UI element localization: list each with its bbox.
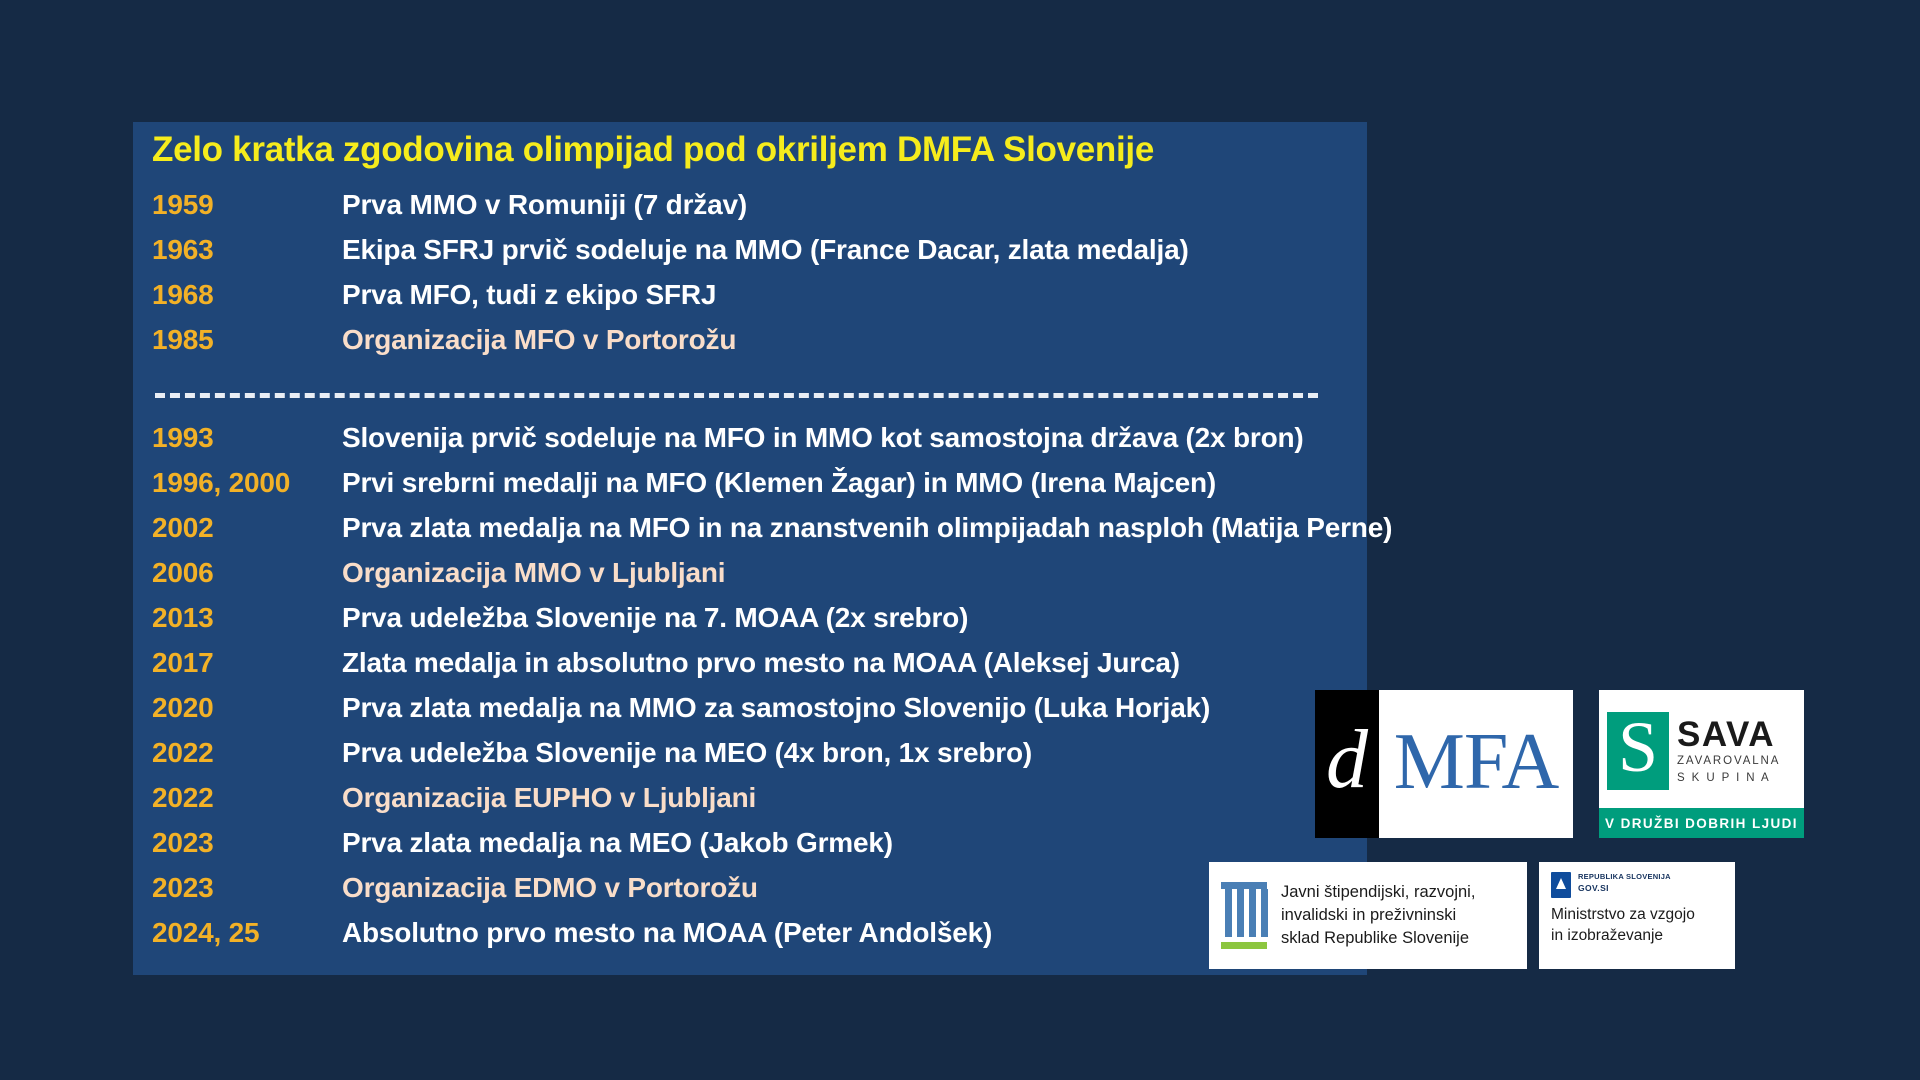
sklad-column-bar [1237,889,1244,937]
timeline-row: 1968Prva MFO, tudi z ekipo SFRJ [152,279,1189,324]
timeline-row: 2013Prva udeležba Slovenije na 7. MOAA (… [152,602,1392,647]
timeline-description: Ekipa SFRJ prvič sodeluje na MMO (France… [342,234,1189,266]
dmfa-mark: d [1315,690,1379,838]
ministrstvo-header: REPUBLIKA SLOVENIJA GOV.SI [1551,872,1723,898]
timeline-year: 2017 [152,647,342,679]
ministrstvo-text-area: Ministrstvo za vzgojo in izobraževanje [1551,905,1723,947]
sklad-capital [1221,882,1267,889]
sava-subtitle-2: S K U P I N A [1677,771,1780,785]
sava-subtitle-1: ZAVAROVALNA [1677,754,1780,768]
timeline-description: Prvi srebrni medalji na MFO (Klemen Žaga… [342,467,1216,499]
content-panel: Zelo kratka zgodovina olimpijad pod okri… [133,122,1367,975]
timeline-description: Prva udeležba Slovenije na 7. MOAA (2x s… [342,602,968,634]
timeline-row: 1985Organizacija MFO v Portorožu [152,324,1189,369]
sklad-column-bar [1225,889,1232,937]
timeline-year: 1996, 2000 [152,467,342,499]
ministrstvo-gov-block: REPUBLIKA SLOVENIJA GOV.SI [1578,872,1671,894]
sklad-column-icon [1221,879,1269,953]
timeline-description: Organizacija MMO v Ljubljani [342,557,725,589]
sava-main-area: S SAVA ZAVAROVALNA S K U P I N A [1599,690,1804,808]
timeline-year: 2022 [152,782,342,814]
sklad-line-2: invalidski in preživninski [1281,904,1475,927]
timeline-description: Organizacija EUPHO v Ljubljani [342,782,756,814]
era-divider [155,393,1318,398]
timeline-description: Prva MMO v Romuniji (7 držav) [342,189,747,221]
page-title: Zelo kratka zgodovina olimpijad pod okri… [152,130,1154,170]
timeline-row: 1993Slovenija prvič sodeluje na MFO in M… [152,422,1392,467]
timeline-year: 2022 [152,737,342,769]
logo-row-bottom: Javni štipendijski, razvojni, invalidski… [1209,862,1735,969]
sklad-base [1221,942,1267,949]
timeline-year: 1985 [152,324,342,356]
timeline-year: 1993 [152,422,342,454]
timeline-year: 2023 [152,827,342,859]
slide-root: Zelo kratka zgodovina olimpijad pod okri… [0,0,1920,1080]
logo-row-top: d MFA S SAVA ZAVAROVALNA S K U P I N A [1315,690,1804,838]
sava-logo: S SAVA ZAVAROVALNA S K U P I N A V DRUŽB… [1599,690,1804,838]
sklad-column-bar [1249,889,1256,937]
timeline-description: Absolutno prvo mesto na MOAA (Peter Ando… [342,917,992,949]
sklad-column-bar [1261,889,1268,937]
timeline-row: 2006Organizacija MMO v Ljubljani [152,557,1392,602]
timeline-description: Prva zlata medalja na MFO in na znanstve… [342,512,1392,544]
timeline-description: Prva zlata medalja na MEO (Jakob Grmek) [342,827,893,859]
dmfa-letter: d [1326,718,1368,802]
timeline-description: Prva zlata medalja na MMO za samostojno … [342,692,1210,724]
timeline-description: Prva udeležba Slovenije na MEO (4x bron,… [342,737,1032,769]
timeline-section-early: 1959Prva MMO v Romuniji (7 držav)1963Eki… [152,189,1189,369]
sklad-text-area: Javni štipendijski, razvojni, invalidski… [1281,881,1475,949]
sava-text-area: SAVA ZAVAROVALNA S K U P I N A [1677,717,1780,785]
timeline-year: 1968 [152,279,342,311]
timeline-description: Slovenija prvič sodeluje na MFO in MMO k… [342,422,1304,454]
dmfa-logo: d MFA [1315,690,1573,838]
sava-mark: S [1607,712,1669,790]
timeline-row: 1963Ekipa SFRJ prvič sodeluje na MMO (Fr… [152,234,1189,279]
dmfa-wordmark: MFA [1394,722,1558,802]
timeline-year: 2024, 25 [152,917,342,949]
timeline-description: Zlata medalja in absolutno prvo mesto na… [342,647,1180,679]
republika-slovenija-label: REPUBLIKA SLOVENIJA [1578,872,1671,883]
sava-wordmark: SAVA [1677,717,1780,752]
timeline-year: 2006 [152,557,342,589]
coat-of-arms-icon [1551,872,1571,898]
sklad-line-3: sklad Republike Slovenije [1281,927,1475,950]
timeline-row: 1996, 2000Prvi srebrni medalji na MFO (K… [152,467,1392,512]
ministrstvo-line-1: Ministrstvo za vzgojo [1551,905,1723,926]
ministrstvo-line-2: in izobraževanje [1551,926,1723,947]
timeline-year: 2023 [152,872,342,904]
timeline-year: 2013 [152,602,342,634]
sava-tagline: V DRUŽBI DOBRIH LJUDI [1599,808,1804,838]
sponsor-logos: d MFA S SAVA ZAVAROVALNA S K U P I N A [1195,690,1855,980]
ministrstvo-logo: REPUBLIKA SLOVENIJA GOV.SI Ministrstvo z… [1539,862,1735,969]
timeline-description: Prva MFO, tudi z ekipo SFRJ [342,279,716,311]
timeline-row: 1959Prva MMO v Romuniji (7 držav) [152,189,1189,234]
sklad-line-1: Javni štipendijski, razvojni, [1281,881,1475,904]
javni-sklad-logo: Javni štipendijski, razvojni, invalidski… [1209,862,1527,969]
timeline-description: Organizacija MFO v Portorožu [342,324,736,356]
timeline-year: 1963 [152,234,342,266]
timeline-description: Organizacija EDMO v Portorožu [342,872,758,904]
timeline-year: 2002 [152,512,342,544]
timeline-row: 2002Prva zlata medalja na MFO in na znan… [152,512,1392,557]
timeline-year: 1959 [152,189,342,221]
timeline-row: 2017Zlata medalja in absolutno prvo mest… [152,647,1392,692]
timeline-year: 2020 [152,692,342,724]
gov-si-label: GOV.SI [1578,883,1671,894]
sava-letter: S [1618,711,1658,783]
dmfa-wordmark-area: MFA [1379,690,1573,838]
